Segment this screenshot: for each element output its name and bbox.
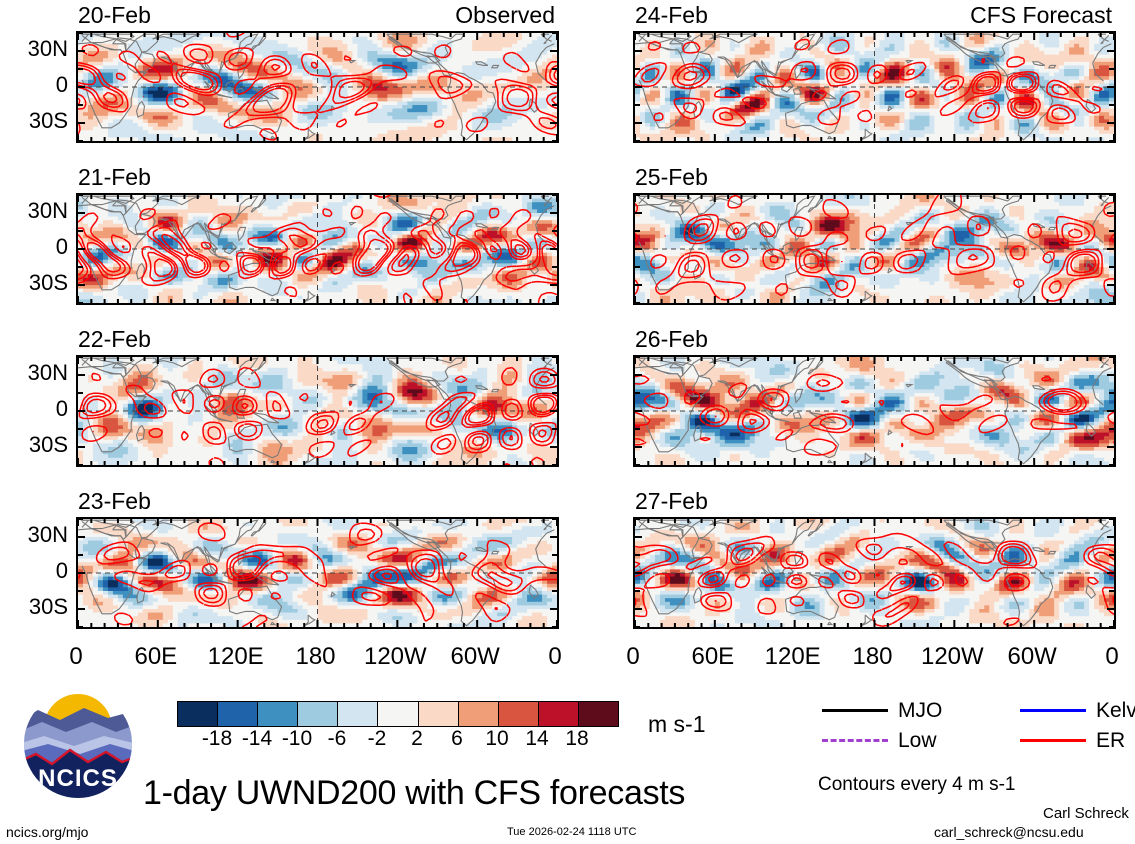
x-axis-tick-2: 120E <box>748 645 838 669</box>
y-axis-tick-0: 0 <box>0 74 68 96</box>
x-axis-tick-3: 180 <box>828 645 918 669</box>
column-header-observed: Observed <box>455 4 555 27</box>
credit-email: carl_schreck@ncsu.edu <box>934 825 1084 839</box>
legend-line-mjo <box>822 709 888 712</box>
map-panel-26-feb: 26-Feb <box>633 355 1112 463</box>
colorbar-segment-8 <box>499 702 539 726</box>
y-axis-tick-30s: 30S <box>0 110 68 132</box>
colorbar-segment-9 <box>539 702 579 726</box>
legend-label-low: Low <box>898 730 937 751</box>
legend-line-low <box>822 739 888 742</box>
legend-line-kelvin-x2 <box>1020 709 1086 712</box>
panel-date-label: 20-Feb <box>78 4 151 27</box>
panel-date-label: 22-Feb <box>78 328 151 351</box>
colorbar-tick-9: 18 <box>547 728 607 749</box>
x-axis-tick-4: 120W <box>907 645 997 669</box>
map-panel-25-feb: 25-Feb <box>633 193 1112 301</box>
ncics-logo: NCICS <box>18 688 138 800</box>
map-panel-20-feb: 20-FebObserved <box>76 31 555 139</box>
column-header-cfs-forecast: CFS Forecast <box>970 4 1112 27</box>
panel-date-label: 27-Feb <box>635 490 708 513</box>
colorbar-segment-6 <box>419 702 459 726</box>
x-axis-tick-4: 120W <box>350 645 440 669</box>
map-panel-23-feb: 23-Feb <box>76 517 555 625</box>
map-panel-22-feb: 22-Feb <box>76 355 555 463</box>
colorbar-segment-5 <box>378 702 418 726</box>
y-axis-tick-30s: 30S <box>0 434 68 456</box>
panel-date-label: 24-Feb <box>635 4 708 27</box>
map-plot-area <box>76 355 559 467</box>
colorbar-segment-2 <box>258 702 298 726</box>
map-panel-21-feb: 21-Feb <box>76 193 555 301</box>
colorbar-segment-3 <box>298 702 338 726</box>
panel-date-label: 23-Feb <box>78 490 151 513</box>
colorbar-segment-0 <box>178 702 218 726</box>
y-axis-tick-0: 0 <box>0 560 68 582</box>
map-plot-area <box>76 517 559 629</box>
y-axis-tick-30n: 30N <box>0 362 68 384</box>
x-axis-tick-6: 0 <box>510 645 600 669</box>
credit-name: Carl Schreck <box>1043 806 1129 821</box>
x-axis-tick-6: 0 <box>1067 645 1135 669</box>
panel-date-label: 25-Feb <box>635 166 708 189</box>
y-axis-tick-30n: 30N <box>0 200 68 222</box>
y-axis-tick-30s: 30S <box>0 272 68 294</box>
colorbar-segment-7 <box>459 702 499 726</box>
y-axis-tick-30n: 30N <box>0 524 68 546</box>
x-axis-tick-1: 60E <box>111 645 201 669</box>
legend-label-er: ER <box>1096 730 1125 751</box>
footer-site-url[interactable]: ncics.org/mjo <box>6 825 88 839</box>
legend-label-mjo: MJO <box>898 700 942 721</box>
map-plot-area <box>633 517 1116 629</box>
colorbar <box>177 701 619 727</box>
colorbar-segment-10 <box>579 702 618 726</box>
x-axis-tick-5: 60W <box>987 645 1077 669</box>
map-plot-area <box>76 31 559 143</box>
x-axis-tick-2: 120E <box>191 645 281 669</box>
colorbar-segment-1 <box>218 702 258 726</box>
x-axis-tick-0: 0 <box>31 645 121 669</box>
colorbar-units-label: m s-1 <box>648 713 706 736</box>
map-plot-area <box>633 193 1116 305</box>
contour-interval-note: Contours every 4 m s-1 <box>818 775 1015 794</box>
footer-timestamp: Tue 2026-02-24 1118 UTC <box>507 827 636 838</box>
map-plot-area <box>76 193 559 305</box>
panel-date-label: 26-Feb <box>635 328 708 351</box>
x-axis-tick-3: 180 <box>271 645 361 669</box>
x-axis-tick-5: 60W <box>430 645 520 669</box>
legend-label-kelvin-x2: Kelvin x2 <box>1096 700 1135 721</box>
y-axis-tick-30n: 30N <box>0 38 68 60</box>
y-axis-tick-0: 0 <box>0 398 68 420</box>
panel-date-label: 21-Feb <box>78 166 151 189</box>
y-axis-tick-30s: 30S <box>0 596 68 618</box>
x-axis-tick-1: 60E <box>668 645 758 669</box>
colorbar-segment-4 <box>338 702 378 726</box>
y-axis-tick-0: 0 <box>0 236 68 258</box>
map-panel-24-feb: 24-FebCFS Forecast <box>633 31 1112 139</box>
x-axis-tick-0: 0 <box>588 645 678 669</box>
legend-line-er <box>1020 739 1086 742</box>
map-plot-area <box>633 355 1116 467</box>
figure-main-title: 1-day UWND200 with CFS forecasts <box>143 776 685 810</box>
map-panel-27-feb: 27-Feb <box>633 517 1112 625</box>
map-plot-area <box>633 31 1116 143</box>
